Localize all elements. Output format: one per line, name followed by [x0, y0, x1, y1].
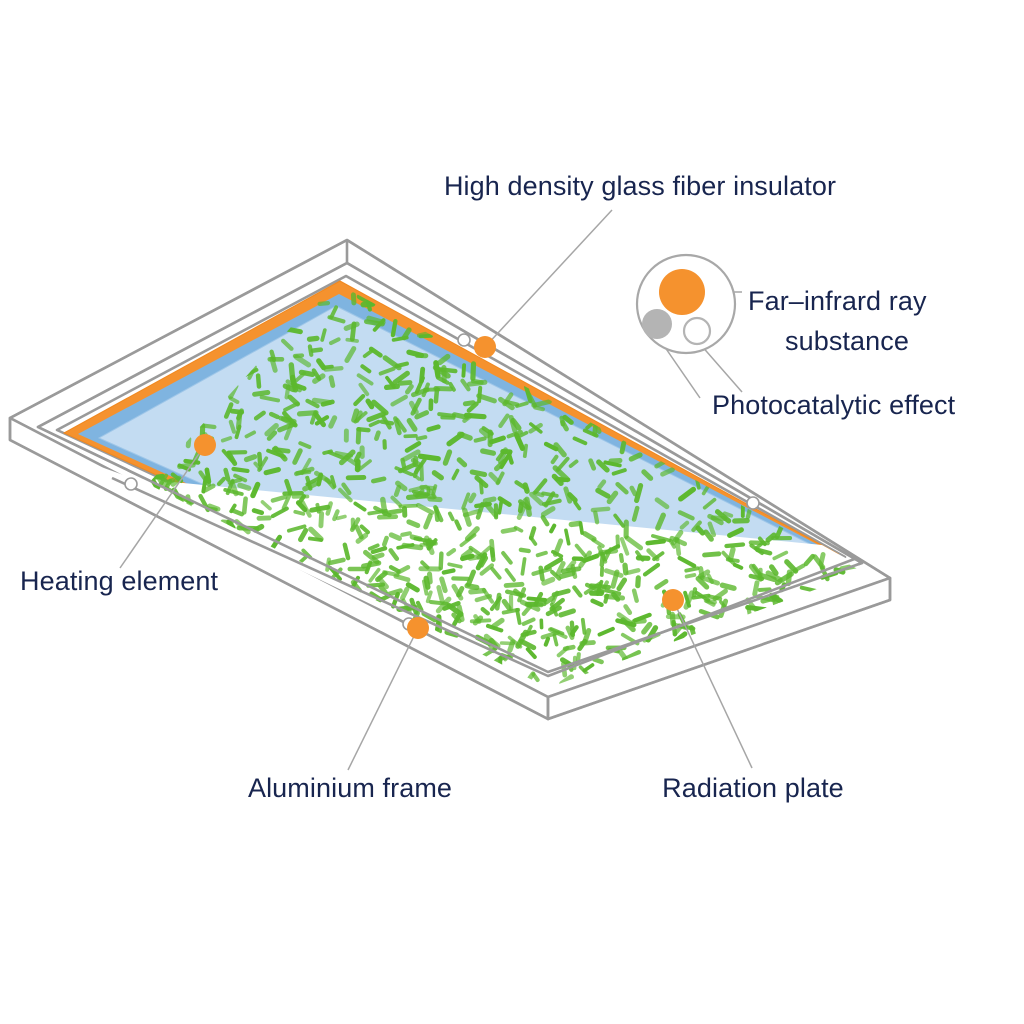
hollow-marker-left: [125, 478, 137, 490]
leader-aluminium-frame: [348, 628, 418, 770]
leader-photocatalytic-hollow: [700, 344, 742, 392]
hotspot-insulator[interactable]: [474, 336, 496, 358]
panel-cutaway-illustration: High density glass fiber insulator Far–i…: [0, 0, 1024, 1024]
label-far-infrared-line2: substance: [785, 326, 909, 356]
hotspot-aluminium-frame[interactable]: [407, 617, 429, 639]
photocatalytic-particle-solid-icon: [642, 309, 672, 339]
hollow-marker-right: [747, 497, 759, 509]
hotspot-heating-element[interactable]: [194, 434, 216, 456]
label-far-infrared-line1: Far–infrard ray: [748, 286, 927, 316]
far-infrared-particle-icon: [659, 269, 705, 315]
leader-insulator: [485, 210, 612, 347]
label-aluminium-frame: Aluminium frame: [248, 773, 452, 803]
label-radiation-plate: Radiation plate: [662, 773, 844, 803]
callout-magnifier: [637, 255, 735, 353]
hotspot-radiation-plate[interactable]: [662, 589, 684, 611]
label-photocatalytic-effect: Photocatalytic effect: [712, 390, 956, 420]
photocatalytic-particle-hollow-icon: [684, 318, 710, 344]
hollow-marker-top: [458, 334, 470, 346]
label-heating-element: Heating element: [20, 566, 219, 596]
label-glass-fiber-insulator: High density glass fiber insulator: [444, 171, 836, 201]
diagram-canvas: High density glass fiber insulator Far–i…: [0, 0, 1024, 1024]
